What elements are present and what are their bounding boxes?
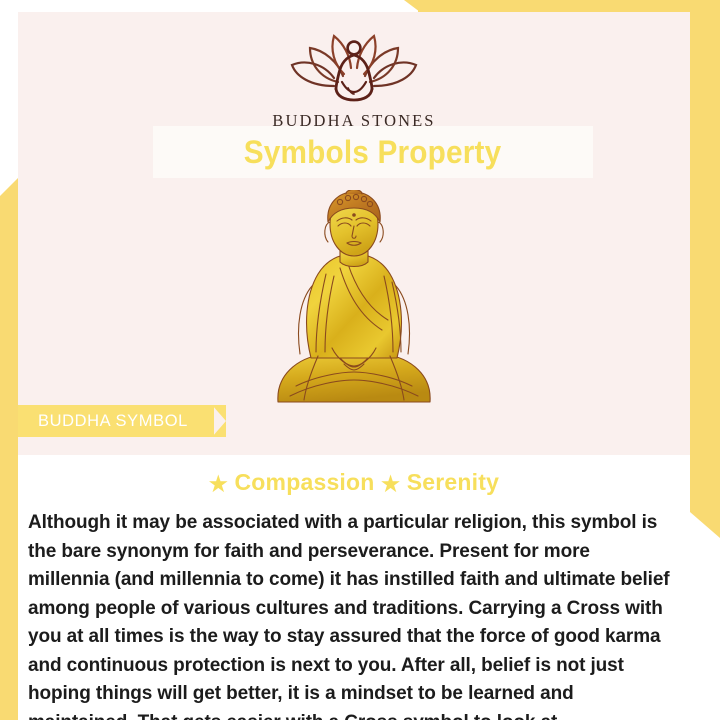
decor-left-bar-tip	[0, 178, 18, 196]
attribute-label-compassion: Compassion	[235, 469, 375, 495]
brand-logo: BUDDHA STONES	[18, 26, 690, 131]
decor-right-bar-tip	[690, 512, 720, 538]
content-section: ★ Compassion ★ Serenity Although it may …	[18, 455, 690, 720]
page-title: Symbols Property	[244, 134, 502, 171]
ribbon-label: BUDDHA SYMBOL	[38, 412, 188, 431]
infographic-poster: BUDDHA STONES Symbols Property	[0, 0, 720, 720]
description-paragraph: Although it may be associated with a par…	[28, 509, 672, 720]
decor-top-strip-corner	[404, 0, 420, 12]
star-icon-1: ★	[209, 473, 228, 496]
decor-top-yellow-strip	[418, 0, 720, 12]
decor-right-yellow-bar	[690, 0, 720, 512]
title-banner: Symbols Property	[153, 126, 593, 178]
decor-left-yellow-bar	[0, 196, 18, 720]
buddha-symbol-ribbon: BUDDHA SYMBOL	[18, 405, 214, 437]
lotus-meditation-icon	[18, 26, 690, 109]
attribute-label-serenity: Serenity	[407, 469, 499, 495]
ribbon-tail	[212, 405, 226, 437]
hero-panel: BUDDHA STONES Symbols Property	[18, 12, 690, 455]
buddha-illustration	[18, 190, 690, 421]
attributes-heading: ★ Compassion ★ Serenity	[18, 469, 690, 497]
star-icon-2: ★	[381, 473, 400, 496]
seated-buddha-icon	[256, 403, 452, 420]
